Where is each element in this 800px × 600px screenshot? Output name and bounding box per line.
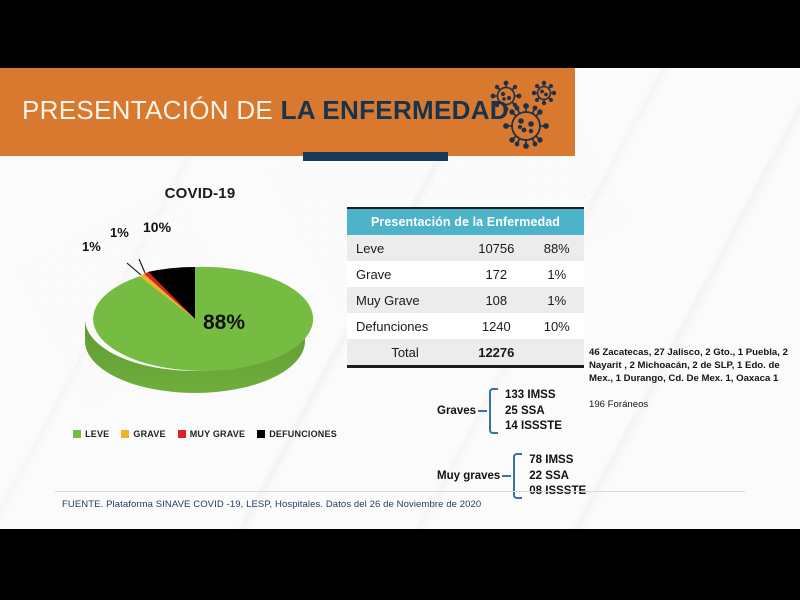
bracket-graves: Graves 133 IMSS 25 SSA 14 ISSSTE	[437, 388, 562, 435]
legend-label-leve: LEVE	[85, 429, 109, 439]
footer-source: FUENTE. Plataforma SINAVE COVID -19, LES…	[62, 499, 481, 510]
covid-pie-chart: COVID-19	[55, 185, 345, 470]
legend-item-muy-grave: MUY GRAVE	[178, 429, 245, 439]
row-label-leve: Leve	[347, 235, 463, 261]
page-title: PRESENTACIÓN DE LA ENFERMEDAD	[22, 95, 509, 126]
pie-label-muy-grave: 1%	[110, 225, 129, 240]
pie-leader-line-grave	[127, 263, 141, 275]
legend-item-grave: GRAVE	[121, 429, 165, 439]
legend-swatch-grave	[121, 430, 129, 438]
pie-label-leve: 88%	[203, 311, 245, 335]
row-pct-defunciones: 10%	[529, 313, 584, 339]
page-title-light: PRESENTACIÓN DE	[22, 95, 281, 125]
row-pct-total	[529, 339, 584, 367]
states-note: 46 Zacatecas, 27 Jalisco, 2 Gto., 1 Pueb…	[589, 347, 797, 410]
disease-presentation-table: Presentación de la Enfermedad Leve 10756…	[347, 207, 584, 368]
legend-item-leve: LEVE	[73, 429, 109, 439]
footer-divider	[55, 491, 745, 492]
row-value-grave: 172	[463, 261, 529, 287]
table-row: Leve 10756 88%	[347, 235, 584, 261]
row-value-leve: 10756	[463, 235, 529, 261]
row-pct-leve: 88%	[529, 235, 584, 261]
bracket-shape-graves	[489, 388, 498, 434]
row-label-muy-grave: Muy Grave	[347, 287, 463, 313]
bracket-shape-muy-graves	[513, 453, 522, 499]
row-label-grave: Grave	[347, 261, 463, 287]
chart-title: COVID-19	[55, 185, 345, 202]
table-header-title: Presentación de la Enfermedad	[347, 208, 584, 235]
bracket-dash-muy-graves	[502, 475, 511, 477]
table-row: Defunciones 1240 10%	[347, 313, 584, 339]
legend-item-defunciones: DEFUNCIONES	[257, 429, 337, 439]
page-title-bold: LA ENFERMEDAD	[281, 95, 509, 125]
legend-swatch-muy-grave	[178, 430, 186, 438]
bracket-line: 133 IMSS	[505, 388, 562, 404]
pie-label-defunciones: 10%	[143, 219, 171, 235]
bracket-label-muy-graves: Muy graves	[437, 470, 500, 482]
pie-leader-line-muy-grave	[139, 259, 145, 273]
legend-swatch-leve	[73, 430, 81, 438]
row-value-muy-grave: 108	[463, 287, 529, 313]
chart-legend: LEVE GRAVE MUY GRAVE DEFUNCIONES	[65, 429, 345, 439]
legend-swatch-defunciones	[257, 430, 265, 438]
virus-icon	[487, 80, 569, 150]
slide-canvas: PRESENTACIÓN DE LA ENFERMEDAD	[0, 68, 800, 529]
bracket-muy-graves: Muy graves 78 IMSS 22 SSA 08 ISSSTE	[437, 453, 586, 500]
row-pct-muy-grave: 1%	[529, 287, 584, 313]
row-label-defunciones: Defunciones	[347, 313, 463, 339]
pie-chart-graphic: 1% 1% 10% 88%	[55, 207, 345, 412]
row-label-total: Total	[347, 339, 463, 367]
foraneos-count: 196 Foráneos	[589, 399, 797, 410]
pie-label-grave: 1%	[82, 239, 101, 254]
slide-viewer: PRESENTACIÓN DE LA ENFERMEDAD	[0, 0, 800, 600]
row-pct-grave: 1%	[529, 261, 584, 287]
table-header-row: Presentación de la Enfermedad	[347, 208, 584, 235]
table-row: Muy Grave 108 1%	[347, 287, 584, 313]
bracket-line: 14 ISSSTE	[505, 419, 562, 435]
row-value-total: 12276	[463, 339, 529, 367]
legend-label-defunciones: DEFUNCIONES	[269, 429, 337, 439]
bracket-line: 25 SSA	[505, 404, 562, 420]
title-accent-bar	[303, 152, 448, 161]
states-breakdown-text: 46 Zacatecas, 27 Jalisco, 2 Gto., 1 Pueb…	[589, 347, 797, 385]
bracket-lines-graves: 133 IMSS 25 SSA 14 ISSSTE	[505, 388, 562, 435]
row-value-defunciones: 1240	[463, 313, 529, 339]
slide-header-band: PRESENTACIÓN DE LA ENFERMEDAD	[0, 68, 575, 156]
legend-label-grave: GRAVE	[133, 429, 165, 439]
legend-label-muy-grave: MUY GRAVE	[190, 429, 245, 439]
bracket-dash-graves	[478, 410, 487, 412]
table-total-row: Total 12276	[347, 339, 584, 367]
bracket-line: 78 IMSS	[529, 453, 586, 469]
bracket-lines-muy-graves: 78 IMSS 22 SSA 08 ISSSTE	[529, 453, 586, 500]
bracket-label-graves: Graves	[437, 405, 476, 417]
bracket-line: 22 SSA	[529, 469, 586, 485]
table-row: Grave 172 1%	[347, 261, 584, 287]
